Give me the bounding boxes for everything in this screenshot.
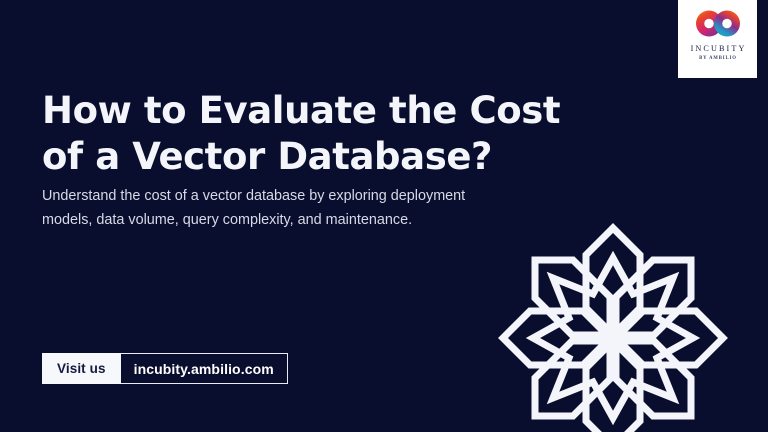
rosette-petal-ne xyxy=(616,260,691,335)
incubity-infinity-logo-icon xyxy=(695,9,741,38)
page-title: How to Evaluate the Cost of a Vector Dat… xyxy=(42,88,602,181)
rosette-petal-sw xyxy=(535,341,610,416)
page-title-line-1: How to Evaluate the Cost xyxy=(42,88,602,135)
logo-tagline: BY AMBILIO xyxy=(698,57,737,62)
visit-us-button[interactable]: Visit us incubity.ambilio.com xyxy=(42,353,288,384)
brand-logo-card: INCUBITY BY AMBILIO xyxy=(678,0,757,78)
visit-us-label: Visit us xyxy=(42,353,121,384)
rosette-center-star xyxy=(533,258,693,418)
rosette-petal-n xyxy=(586,228,640,335)
page-subtitle-line-1: Understand the cost of a vector database… xyxy=(42,185,552,208)
page-subtitle-line-2: models, data volume, query complexity, a… xyxy=(42,209,552,232)
banner-card: INCUBITY BY AMBILIO How to Evaluate the … xyxy=(0,0,768,432)
page-title-line-2: of a Vector Database? xyxy=(42,134,602,181)
page-subtitle: Understand the cost of a vector database… xyxy=(42,185,552,232)
rosette-petal-e xyxy=(616,311,723,365)
rosette-petal-nw xyxy=(535,260,610,335)
eight-pointed-star-rosette-decoration xyxy=(497,222,729,432)
logo-wordmark: INCUBITY xyxy=(688,45,746,53)
rosette-petal-s xyxy=(586,341,640,432)
rosette-petal-w xyxy=(503,311,610,365)
visit-us-url[interactable]: incubity.ambilio.com xyxy=(121,353,288,384)
rosette-petal-se xyxy=(616,341,691,416)
